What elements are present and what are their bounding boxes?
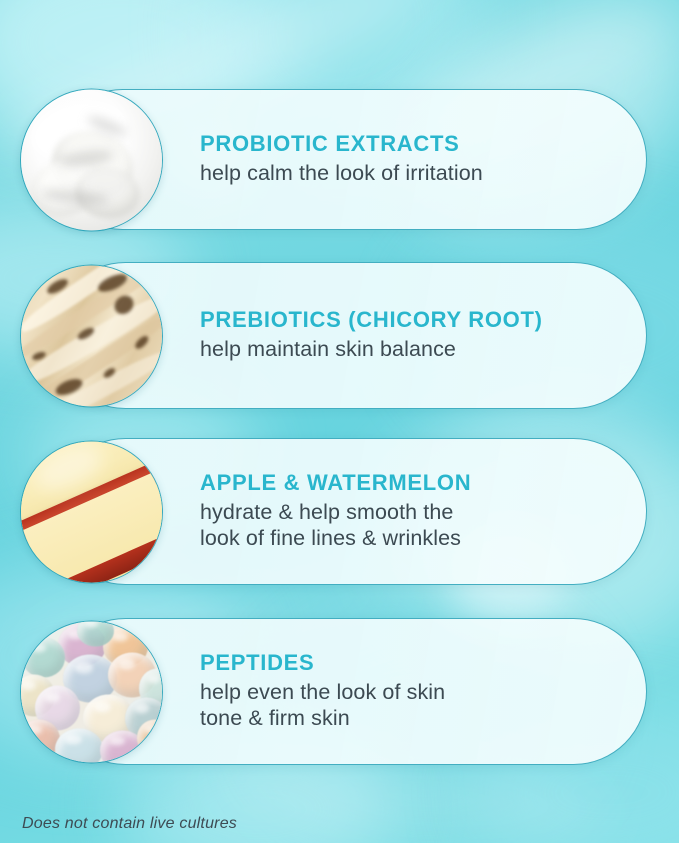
card-text: PEPTIDES help even the look of skin tone…: [200, 651, 469, 732]
card-title: PEPTIDES: [200, 651, 445, 675]
card-description-line: look of fine lines & wrinkles: [200, 526, 471, 552]
ingredient-card-apple-watermelon: APPLE & WATERMELON hydrate & help smooth…: [52, 438, 647, 585]
peptide-bead: [22, 638, 64, 677]
card-description-line: tone & firm skin: [200, 706, 445, 732]
peptide-bead: [55, 728, 103, 762]
ingredient-card-peptides: PEPTIDES help even the look of skin tone…: [52, 618, 647, 765]
chicory-root-photo: [20, 264, 163, 407]
ingredient-card-probiotic-extracts: PROBIOTIC EXTRACTS help calm the look of…: [52, 89, 647, 230]
peptide-beads-photo: [20, 620, 163, 763]
card-text: APPLE & WATERMELON hydrate & help smooth…: [200, 471, 495, 552]
apple-slices-photo: [20, 440, 163, 583]
card-title: APPLE & WATERMELON: [200, 471, 471, 495]
card-title: PROBIOTIC EXTRACTS: [200, 132, 483, 156]
card-text: PREBIOTICS (CHICORY ROOT) help maintain …: [200, 308, 567, 363]
card-text: PROBIOTIC EXTRACTS help calm the look of…: [200, 132, 507, 187]
card-description-line: hydrate & help smooth the: [200, 500, 471, 526]
probiotic-cream-swirl-photo: [20, 88, 163, 231]
card-description-line: help even the look of skin: [200, 680, 445, 706]
card-title: PREBIOTICS (CHICORY ROOT): [200, 308, 543, 332]
footnote-disclaimer: Does not contain live cultures: [22, 815, 237, 833]
card-description-line: help maintain skin balance: [200, 337, 543, 363]
card-description-line: help calm the look of irritation: [200, 161, 483, 187]
ingredient-card-prebiotics-chicory-root: PREBIOTICS (CHICORY ROOT) help maintain …: [52, 262, 647, 409]
